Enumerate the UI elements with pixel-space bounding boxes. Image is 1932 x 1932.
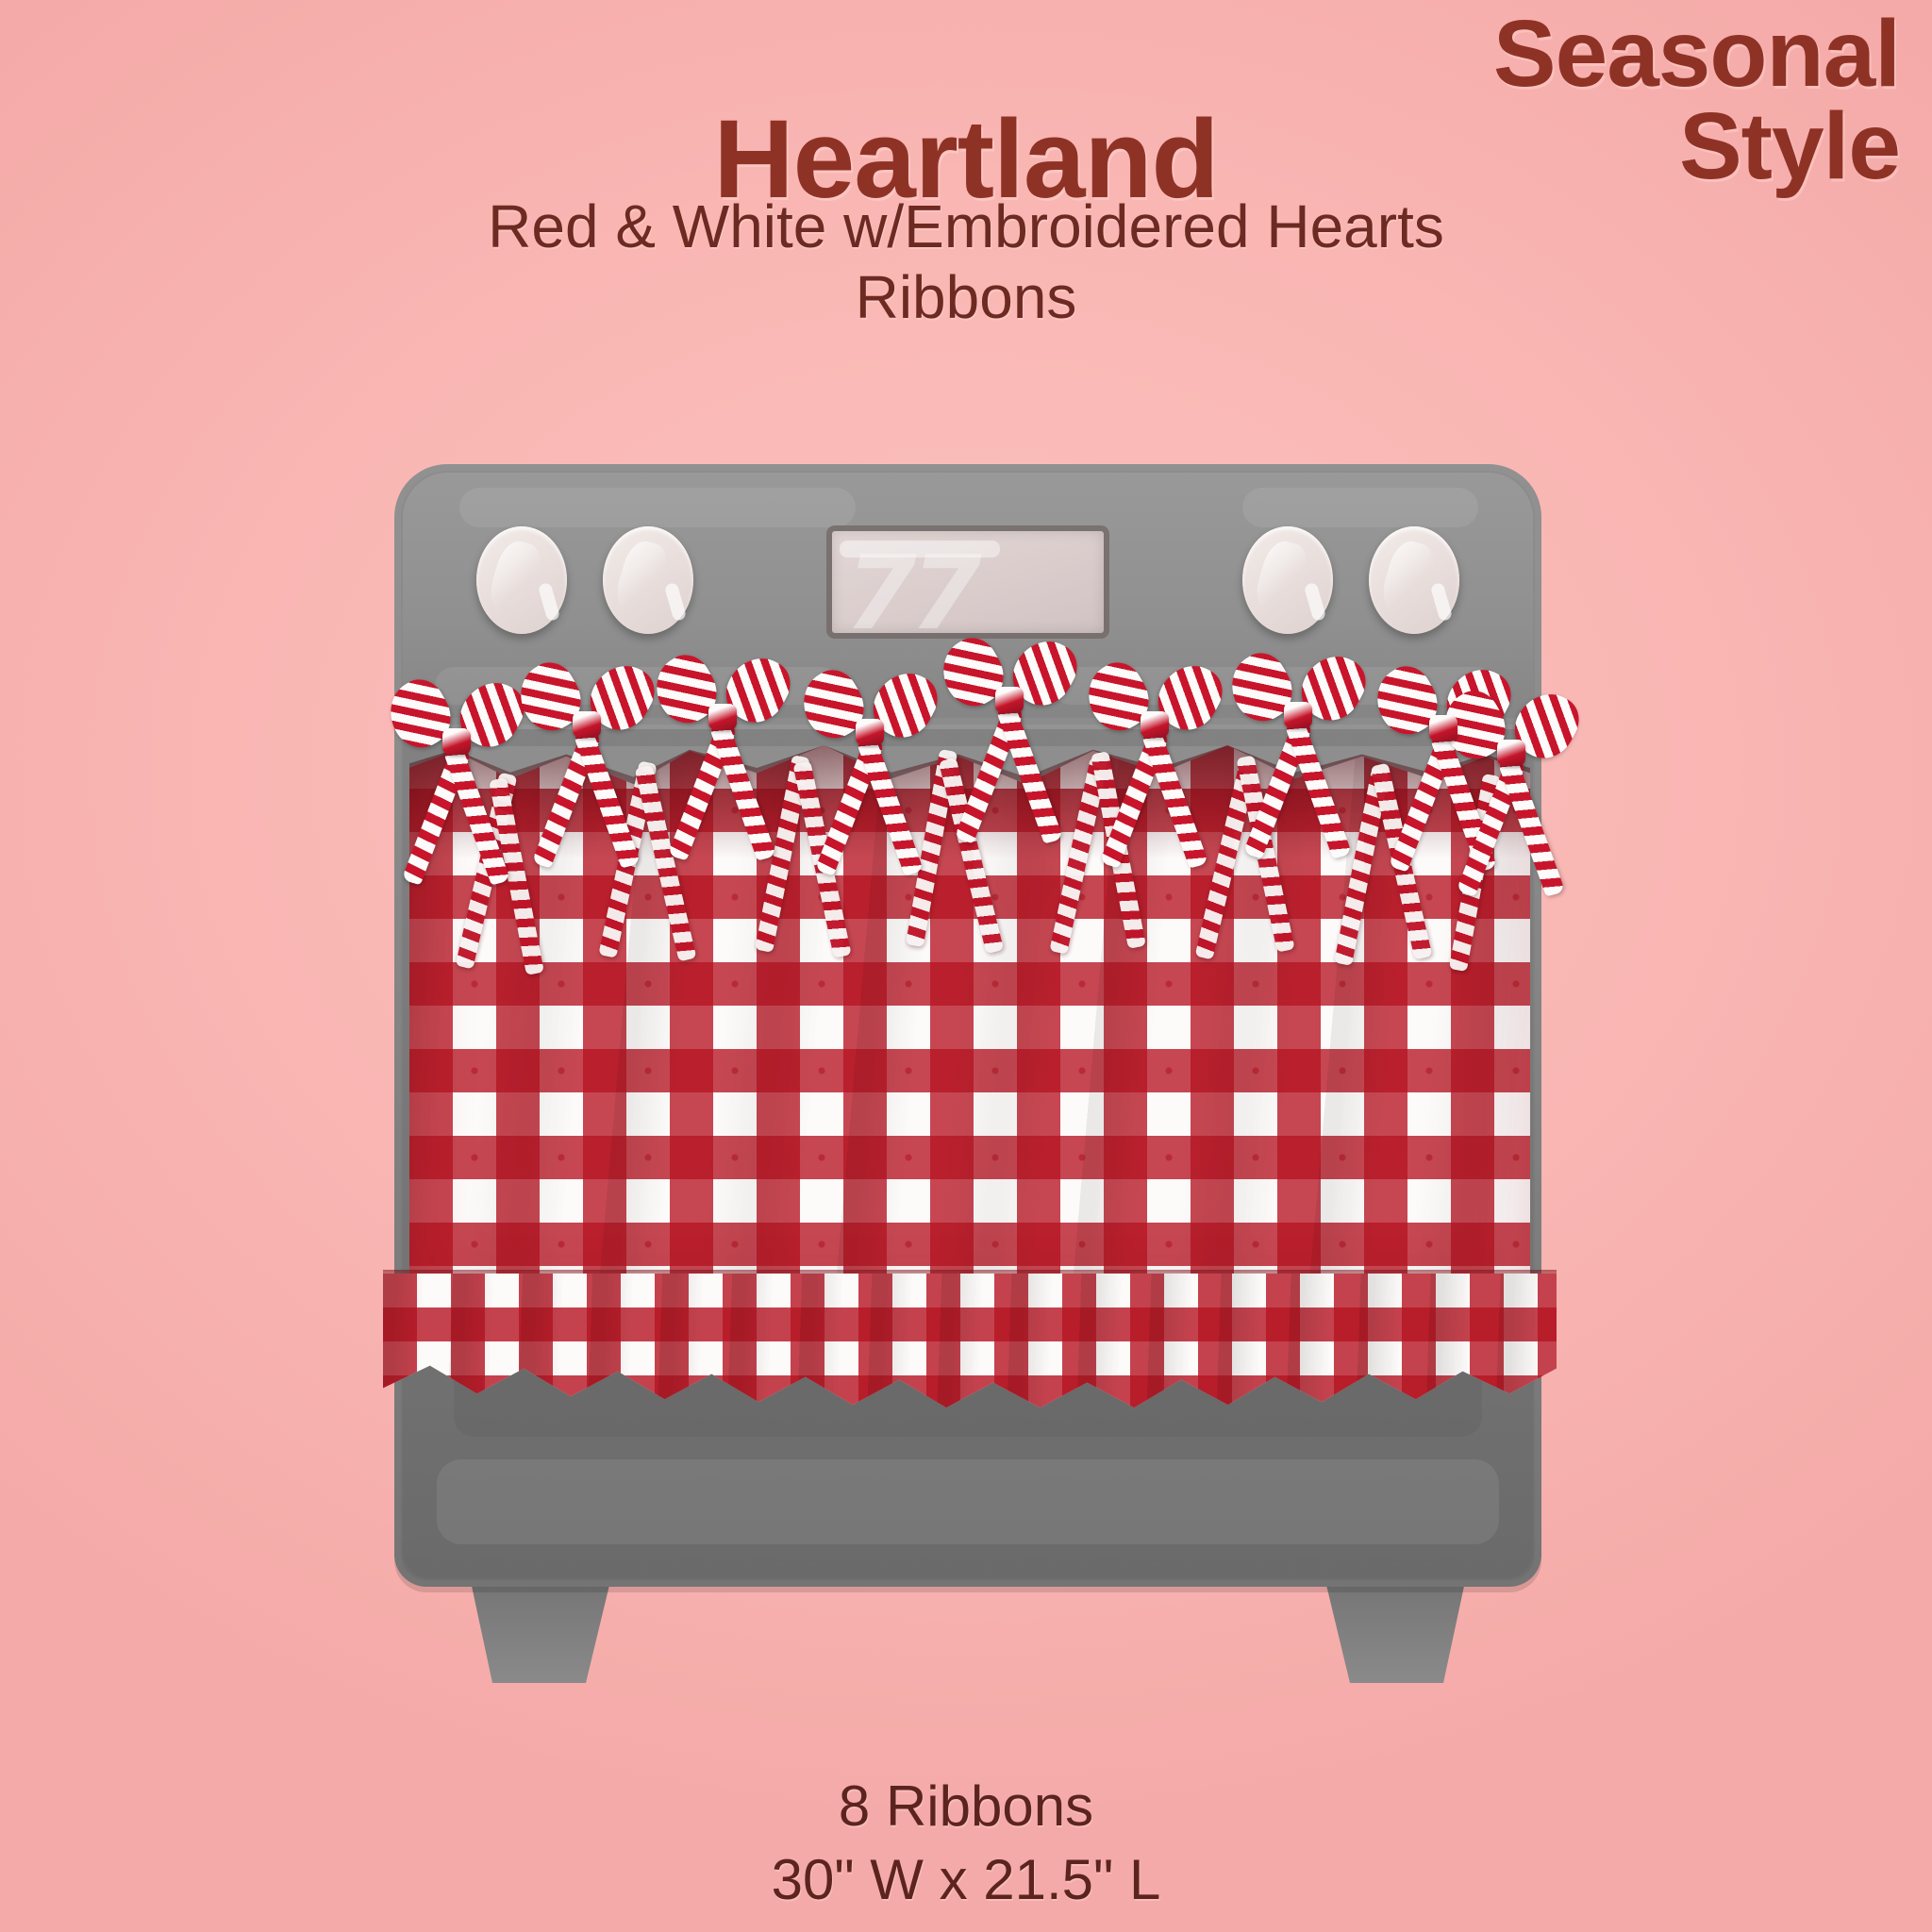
subtitle-line-2: Ribbons <box>0 267 1932 328</box>
bow-knot <box>708 704 737 730</box>
curtain-bow-7 <box>1226 645 1368 862</box>
ribbon-count-label: 8 Ribbons <box>0 1774 1932 1839</box>
bow-tail-right <box>709 723 777 861</box>
gingham-curtain-product <box>409 745 1530 1368</box>
bow-tail-right <box>996 706 1064 844</box>
bow-knot <box>1284 702 1312 728</box>
stove-knob-4[interactable] <box>1369 526 1459 634</box>
stove-display-value: 77 <box>833 535 989 639</box>
bow-tail-right <box>1141 730 1209 869</box>
curtain-bow-5 <box>938 630 1079 847</box>
bow-knot <box>856 719 884 745</box>
stove-knob-1[interactable] <box>476 526 567 634</box>
bow-knot <box>995 687 1024 713</box>
curtain-bow-6 <box>1083 655 1224 872</box>
panel-highlight-top-left <box>459 488 856 527</box>
bow-knot <box>1429 715 1457 741</box>
stove-knob-2[interactable] <box>603 526 693 634</box>
bow-tail-right <box>574 730 641 869</box>
bow-knot <box>1497 740 1525 766</box>
badge-line-2: Style <box>1493 100 1900 192</box>
bow-tail-right <box>443 747 511 886</box>
curtain-bow-4 <box>798 662 940 879</box>
bow-knot <box>1141 711 1169 738</box>
curtain-bow-3 <box>651 647 792 864</box>
stove-knob-3[interactable] <box>1242 526 1333 634</box>
bow-tail-right <box>857 738 924 876</box>
stove-bottom-drawer[interactable] <box>437 1459 1499 1544</box>
bow-tail-right <box>1285 721 1353 859</box>
curtain-bow-2 <box>515 655 657 872</box>
bow-tail-right <box>1498 758 1566 897</box>
seasonal-style-badge: Seasonal Style <box>1493 8 1900 192</box>
bow-knot <box>573 711 601 738</box>
panel-highlight-top-right <box>1242 488 1478 527</box>
curtain-bow-9 <box>1440 683 1581 900</box>
badge-line-1: Seasonal <box>1493 8 1900 100</box>
subtitle-line-1: Red & White w/Embroidered Hearts <box>0 196 1932 258</box>
dimensions-label: 30" W x 21.5" L <box>0 1847 1932 1912</box>
stove-display-panel: 77 <box>826 525 1109 639</box>
bow-knot <box>442 728 471 755</box>
curtain-bow-1 <box>385 672 526 889</box>
